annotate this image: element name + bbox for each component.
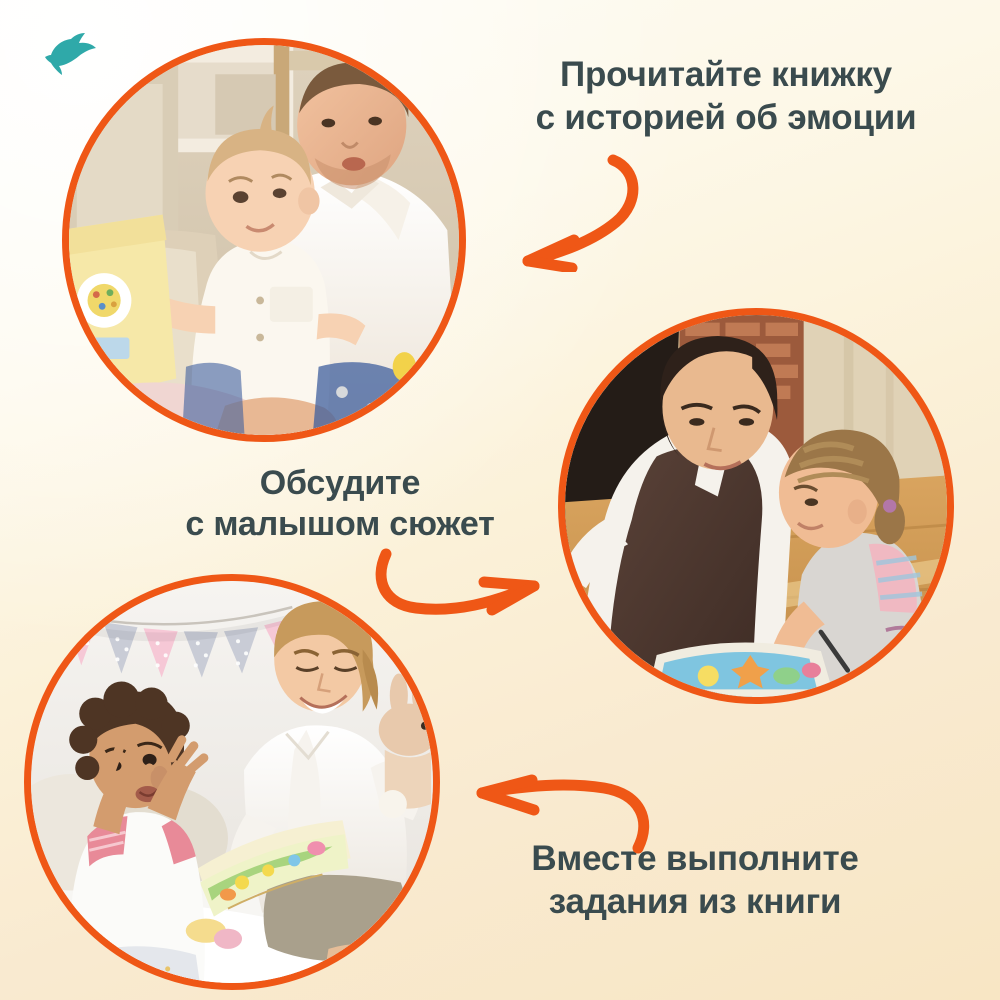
step-3-photo [24, 574, 440, 990]
arrow-right-icon [372, 546, 550, 642]
bird-icon [42, 30, 98, 76]
arrow-down-left-icon [488, 148, 658, 272]
step-2-photo [558, 308, 954, 704]
step-1-caption: Прочитайте книжку с историей об эмоции [500, 54, 952, 139]
arrow-left-icon [462, 748, 652, 854]
infographic-canvas: Прочитайте книжку с историей об эмоции [0, 0, 1000, 1000]
step-1-photo [62, 38, 466, 442]
step-2-caption: Обсудите с малышом сюжет [130, 463, 550, 546]
